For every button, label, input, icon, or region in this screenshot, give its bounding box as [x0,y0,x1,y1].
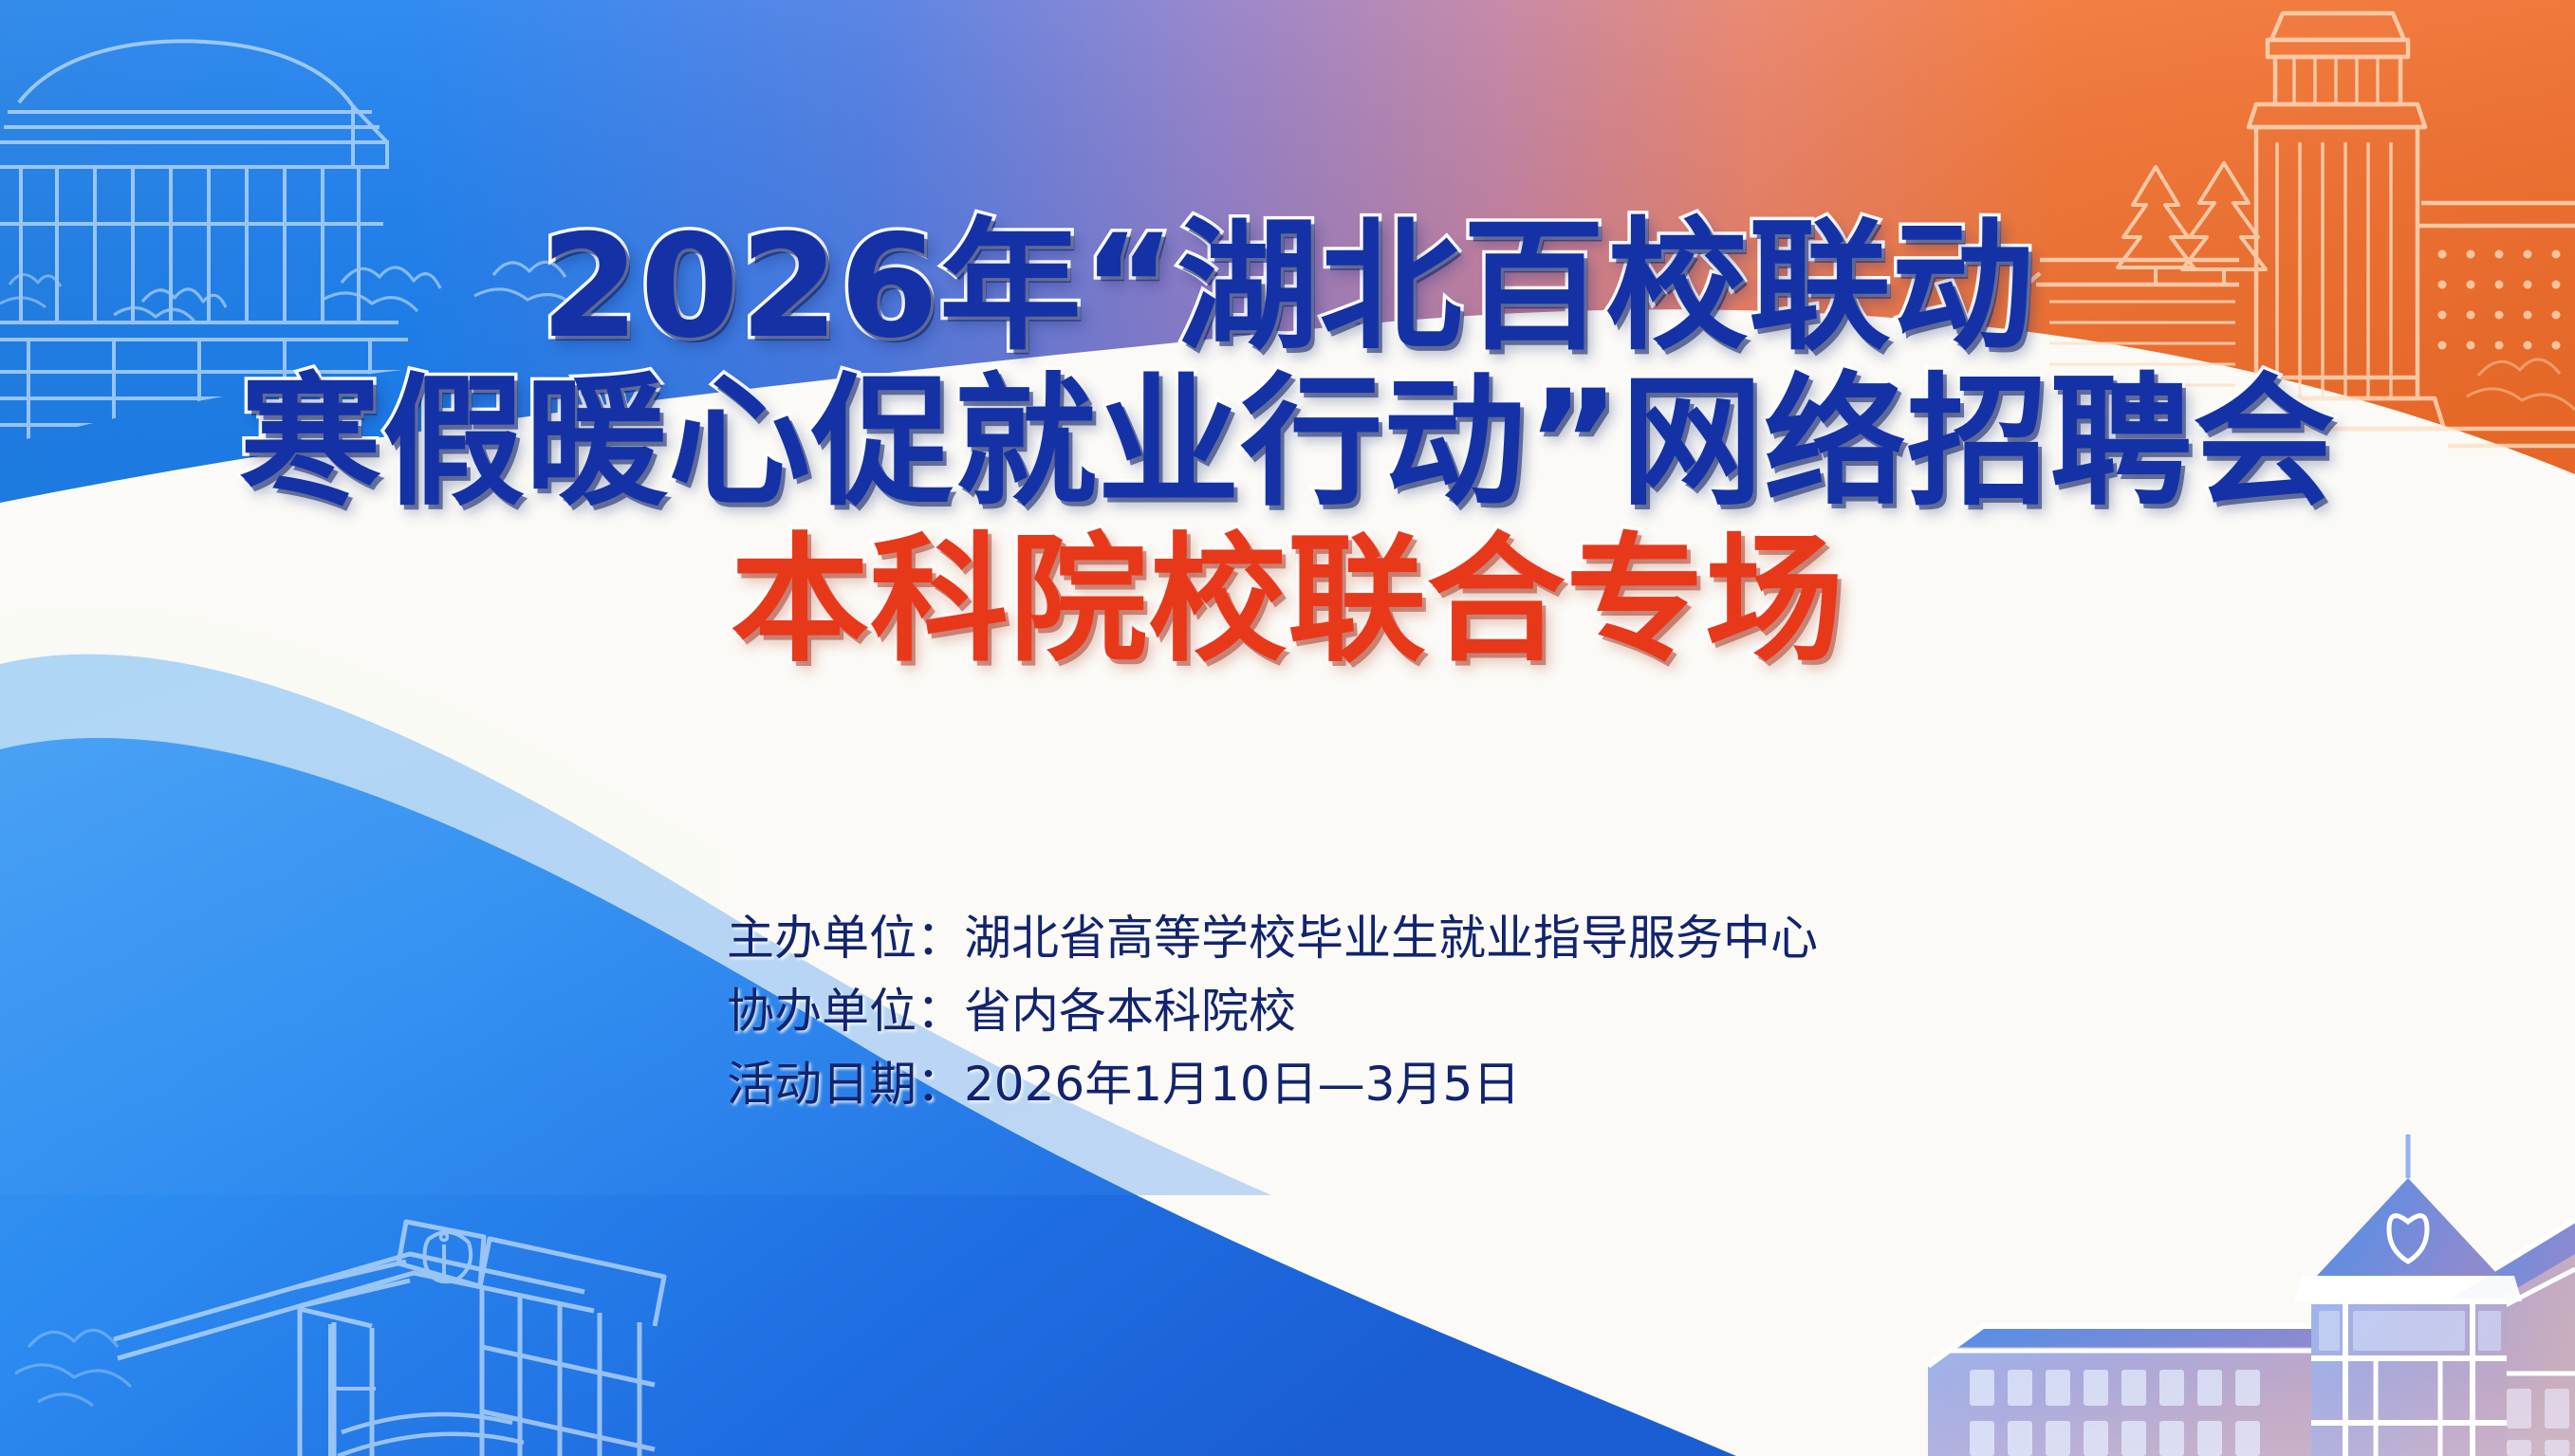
poster-info-block: 主办单位：湖北省高等学校毕业生就业指导服务中心 协办单位：省内各本科院校 活动日… [727,911,1818,1113]
info-line-organizer: 主办单位：湖北省高等学校毕业生就业指导服务中心 [727,911,1818,967]
poster-title-block: 2026年“湖北百校联动 寒假暖心促就业行动”网络招聘会 本科院校联合专场 [0,216,2575,670]
title-line-1: 2026年“湖北百校联动 [0,216,2575,359]
info-line-co-organizer: 协办单位：省内各本科院校 [727,984,1818,1040]
title-line-2: 寒假暖心促就业行动”网络招聘会 [0,372,2575,514]
title-line-3-subtitle: 本科院校联合专场 [0,531,2575,670]
poster-canvas: 2026年“湖北百校联动 寒假暖心促就业行动”网络招聘会 本科院校联合专场 主办… [0,0,2575,1456]
info-line-event-date: 活动日期：2026年1月10日—3月5日 [727,1057,1818,1113]
